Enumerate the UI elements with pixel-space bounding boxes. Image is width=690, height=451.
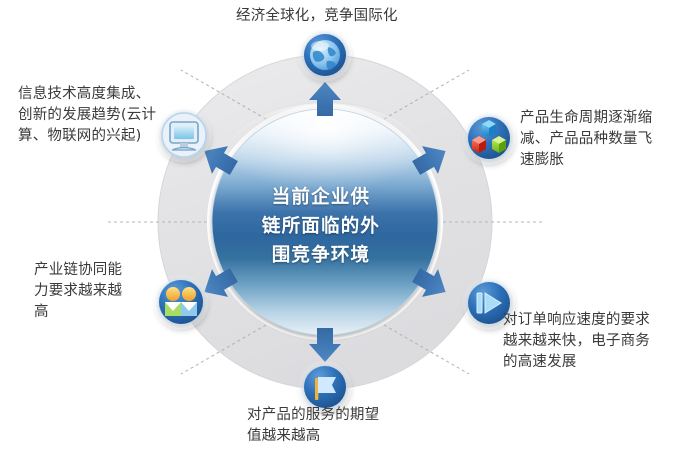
label-globe: 经济全球化，竞争国际化 (236, 6, 466, 27)
label-fast-forward: 对订单响应速度的要求 越来越来快，电子商务 的高速发展 (503, 310, 688, 373)
label-monitor: 信息技术高度集成、 创新的发展趋势(云计 算、物联网的兴起) (18, 84, 183, 147)
label-flag: 对产品的服务的期望 值越来越高 (247, 405, 447, 447)
center-title: 当前企业供 链所面临的外 围竞争环境 (232, 183, 410, 270)
label-two-people: 产业链协同能 力要求越来越 高 (34, 260, 154, 323)
label-cubes: 产品生命周期逐渐缩 减、产品品种数量飞 速膨胀 (520, 108, 690, 171)
diagram-canvas: 当前企业供 链所面临的外 围竞争环境 经济全球化，竞争国际化 产品生命周期逐渐缩… (0, 0, 690, 451)
node-icon-two-people[interactable] (153, 274, 209, 330)
node-icon-cubes[interactable] (462, 111, 516, 165)
node-icon-globe[interactable] (298, 28, 352, 82)
